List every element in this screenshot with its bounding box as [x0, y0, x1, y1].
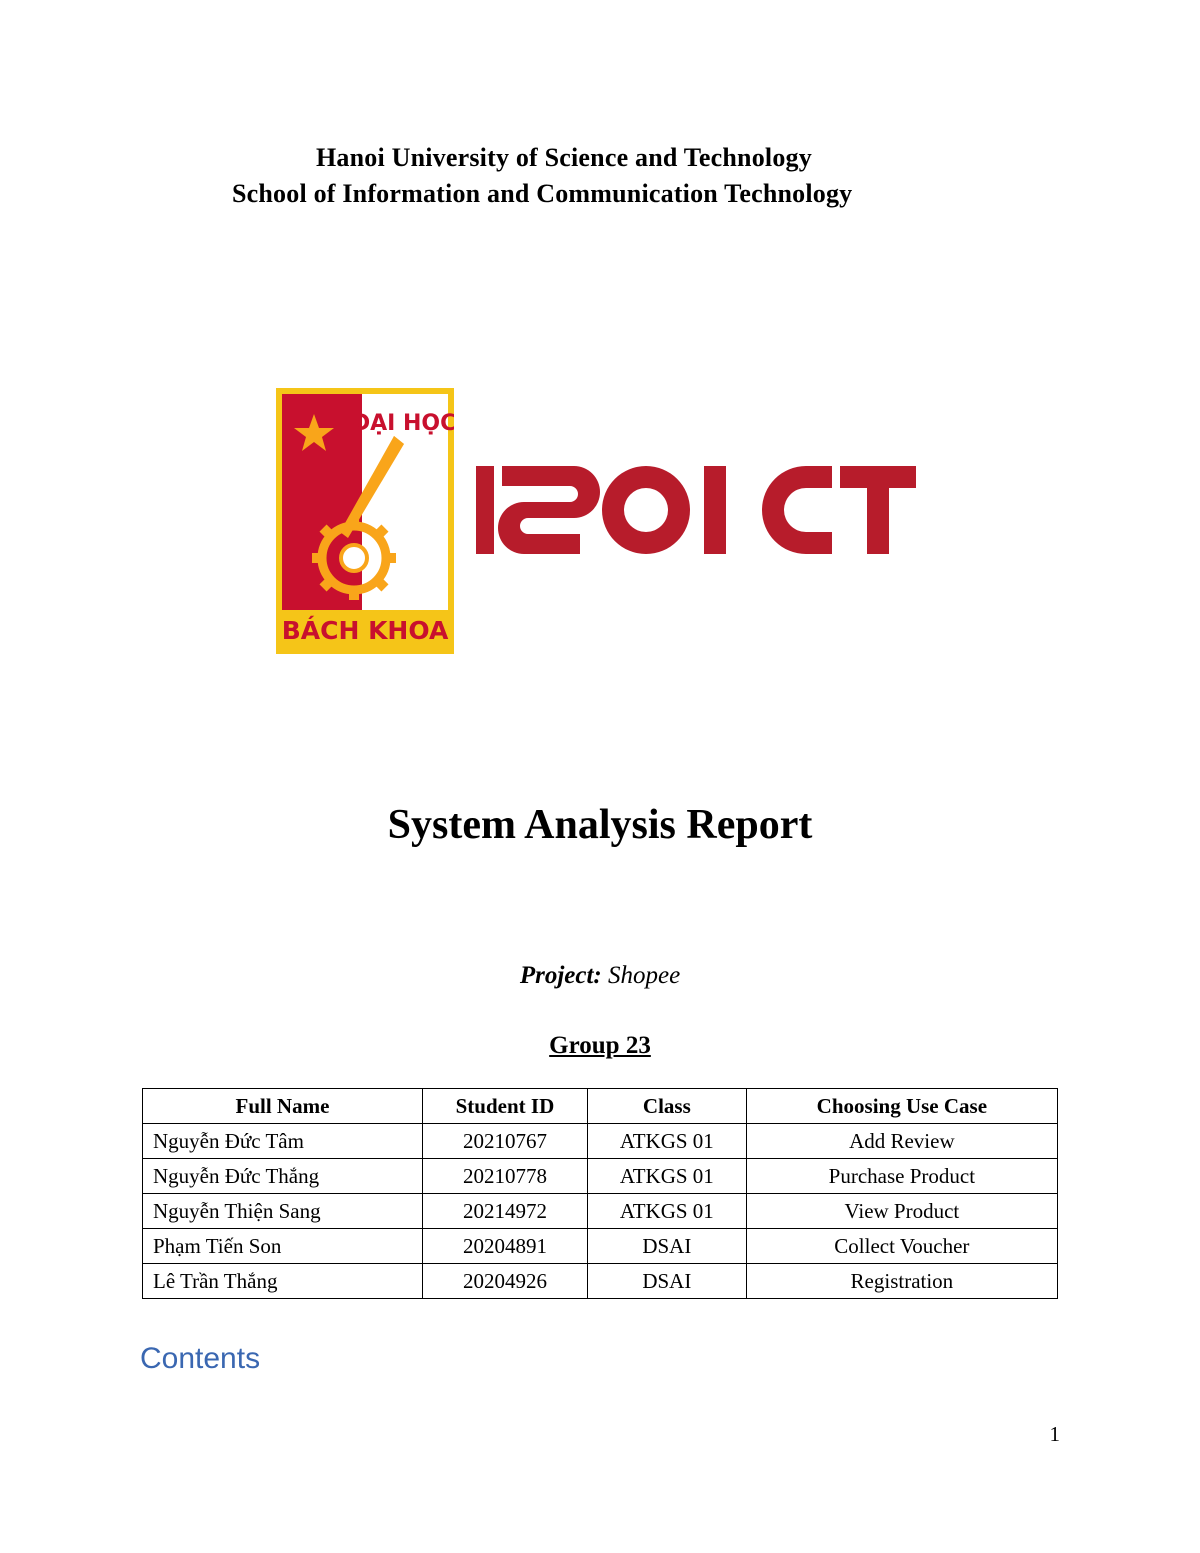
cell-use-case: View Product [746, 1194, 1057, 1229]
project-name: Shopee [608, 962, 680, 989]
university-name: Hanoi University of Science and Technolo… [316, 140, 1032, 176]
column-header-full-name: Full Name [143, 1089, 423, 1124]
cell-class: ATKGS 01 [587, 1124, 746, 1159]
cell-student-id: 20204926 [422, 1264, 587, 1299]
table-header-row: Full Name Student ID Class Choosing Use … [143, 1089, 1058, 1124]
cell-student-id: 20210767 [422, 1124, 587, 1159]
cell-student-id: 20210778 [422, 1159, 587, 1194]
column-header-class: Class [587, 1089, 746, 1124]
svg-text:ĐẠI HỌC: ĐẠI HỌC [352, 411, 454, 436]
cell-full-name: Lê Trần Thắng [143, 1264, 423, 1299]
institution-header: Hanoi University of Science and Technolo… [232, 140, 1032, 212]
group-line: Group 23 [0, 1032, 1200, 1060]
document-page: Hanoi University of Science and Technolo… [0, 0, 1200, 1553]
school-name: School of Information and Communication … [232, 176, 1032, 212]
cell-class: DSAI [587, 1264, 746, 1299]
hust-badge-icon: ĐẠI HỌC BÁCH KHOA [276, 388, 454, 654]
cell-use-case: Purchase Product [746, 1159, 1057, 1194]
table-row: Nguyễn Thiện Sang 20214972 ATKGS 01 View… [143, 1194, 1058, 1229]
cell-full-name: Nguyễn Đức Tâm [143, 1124, 423, 1159]
cell-use-case: Add Review [746, 1124, 1057, 1159]
cell-class: DSAI [587, 1229, 746, 1264]
group-label: Group 23 [549, 1032, 651, 1059]
page-number: 1 [1050, 1422, 1061, 1447]
cell-student-id: 20204891 [422, 1229, 587, 1264]
cell-full-name: Nguyễn Thiện Sang [143, 1194, 423, 1229]
cell-student-id: 20214972 [422, 1194, 587, 1229]
members-table: Full Name Student ID Class Choosing Use … [142, 1088, 1058, 1299]
column-header-student-id: Student ID [422, 1089, 587, 1124]
cell-use-case: Registration [746, 1264, 1057, 1299]
cell-class: ATKGS 01 [587, 1159, 746, 1194]
svg-text:BÁCH KHOA: BÁCH KHOA [282, 616, 449, 645]
table-row: Phạm Tiến Son 20204891 DSAI Collect Vouc… [143, 1229, 1058, 1264]
soict-logo: ĐẠI HỌC BÁCH KHOA [276, 388, 916, 654]
report-title: System Analysis Report [0, 800, 1200, 850]
contents-heading: Contents [140, 1342, 260, 1376]
table-row: Nguyễn Đức Tâm 20210767 ATKGS 01 Add Rev… [143, 1124, 1058, 1159]
cell-full-name: Nguyễn Đức Thắng [143, 1159, 423, 1194]
cell-class: ATKGS 01 [587, 1194, 746, 1229]
table-row: Lê Trần Thắng 20204926 DSAI Registration [143, 1264, 1058, 1299]
column-header-use-case: Choosing Use Case [746, 1089, 1057, 1124]
cell-full-name: Phạm Tiến Son [143, 1229, 423, 1264]
soict-wordmark-icon [476, 440, 916, 580]
table-row: Nguyễn Đức Thắng 20210778 ATKGS 01 Purch… [143, 1159, 1058, 1194]
project-label: Project: [520, 962, 602, 989]
project-line: Project: Shopee [0, 962, 1200, 990]
cell-use-case: Collect Voucher [746, 1229, 1057, 1264]
